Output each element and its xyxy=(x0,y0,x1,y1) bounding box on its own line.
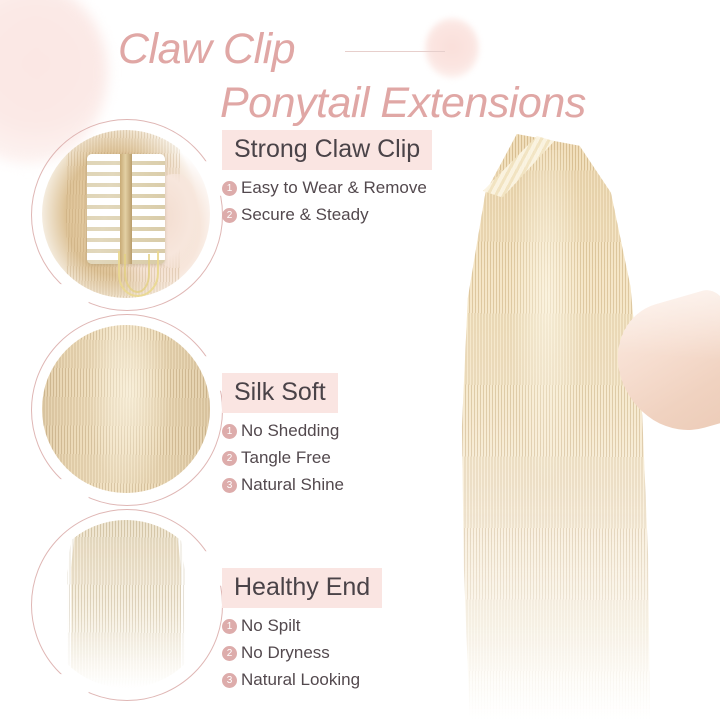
bullet-label: Easy to Wear & Remove xyxy=(241,178,427,198)
bullet-number-badge: 1 xyxy=(222,424,237,439)
bullet-number-badge: 1 xyxy=(222,619,237,634)
feature-bullet-list: 1 Easy to Wear & Remove 2 Secure & Stead… xyxy=(222,178,470,225)
feature-heading: Healthy End xyxy=(222,568,382,608)
feature-photo-silk-soft xyxy=(42,325,210,493)
feature-text-column: Strong Claw Clip 1 Easy to Wear & Remove… xyxy=(222,130,470,225)
feature-text-column: Healthy End 1 No Spilt 2 No Dryness 3 Na… xyxy=(222,568,470,690)
bullet-number-badge: 3 xyxy=(222,478,237,493)
bullet-item: 2 Tangle Free xyxy=(222,448,470,468)
decorative-ring xyxy=(31,509,223,701)
bullet-number-badge: 3 xyxy=(222,673,237,688)
bullet-number-badge: 2 xyxy=(222,646,237,661)
bullet-number-badge: 2 xyxy=(222,208,237,223)
bullet-item: 1 Easy to Wear & Remove xyxy=(222,178,470,198)
bullet-item: 1 No Shedding xyxy=(222,421,470,441)
feature-photo-healthy-end xyxy=(42,520,210,688)
feature-bullet-list: 1 No Shedding 2 Tangle Free 3 Natural Sh… xyxy=(222,421,470,495)
bullet-label: Natural Looking xyxy=(241,670,360,690)
hero-product-photo xyxy=(452,0,720,720)
product-infographic: Claw Clip Ponytail Extensions Strong Cla… xyxy=(0,0,720,720)
feature-text-column: Silk Soft 1 No Shedding 2 Tangle Free 3 … xyxy=(222,373,470,495)
decorative-ring xyxy=(31,119,223,311)
feature-heading: Silk Soft xyxy=(222,373,338,413)
bullet-label: No Spilt xyxy=(241,616,301,636)
feature-photo-claw-clip xyxy=(42,130,210,298)
bullet-item: 2 Secure & Steady xyxy=(222,205,470,225)
bullet-item: 1 No Spilt xyxy=(222,616,470,636)
bullet-label: No Shedding xyxy=(241,421,339,441)
bullet-item: 3 Natural Looking xyxy=(222,670,470,690)
bullet-item: 2 No Dryness xyxy=(222,643,470,663)
bullet-label: No Dryness xyxy=(241,643,330,663)
bullet-label: Tangle Free xyxy=(241,448,331,468)
ponytail-strands-texture xyxy=(458,134,654,720)
bullet-label: Secure & Steady xyxy=(241,205,369,225)
bullet-number-badge: 2 xyxy=(222,451,237,466)
feature-heading: Strong Claw Clip xyxy=(222,130,432,170)
decorative-ring xyxy=(31,314,223,506)
bullet-number-badge: 1 xyxy=(222,181,237,196)
headline-line-1: Claw Clip xyxy=(118,28,295,71)
bullet-label: Natural Shine xyxy=(241,475,344,495)
feature-bullet-list: 1 No Spilt 2 No Dryness 3 Natural Lookin… xyxy=(222,616,470,690)
bullet-item: 3 Natural Shine xyxy=(222,475,470,495)
